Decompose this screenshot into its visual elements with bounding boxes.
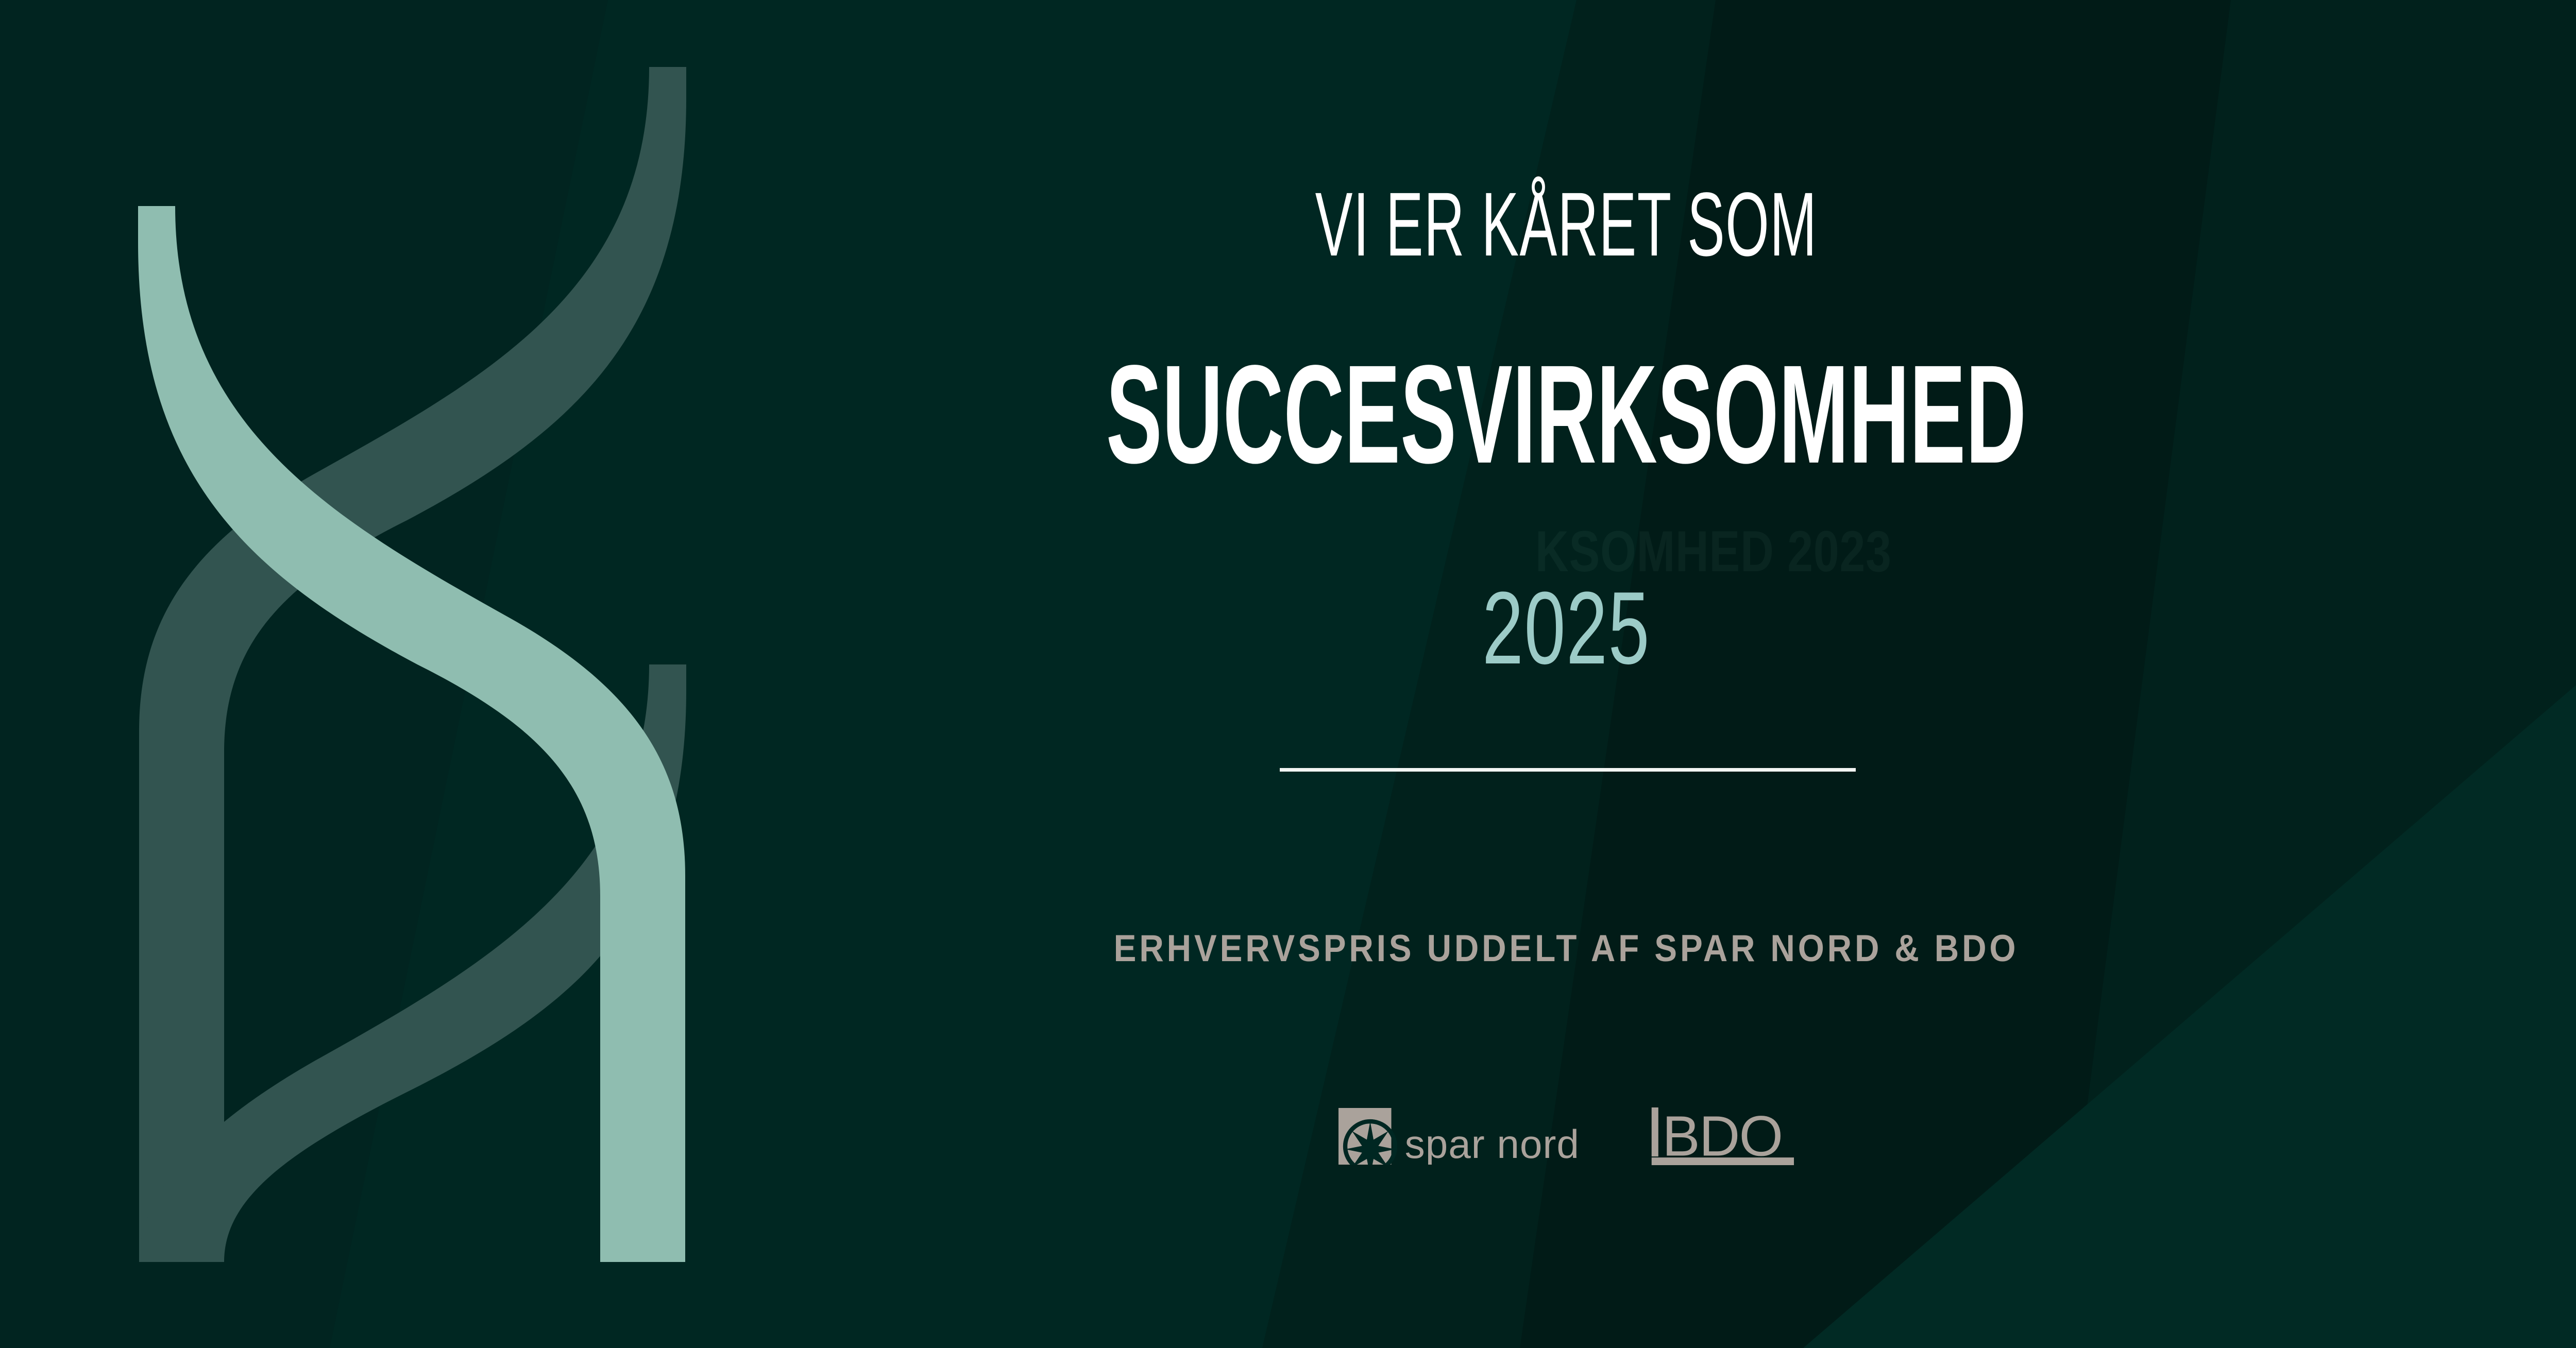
badge-content: VI ER KÅRET SOM SUCCESVIRKSOMHED KSOMHED… xyxy=(732,0,2411,1348)
bdo-logo-icon: BDO xyxy=(1650,1107,1794,1165)
award-badge-canvas: VI ER KÅRET SOM SUCCESVIRKSOMHED KSOMHED… xyxy=(0,0,2576,1348)
award-subline: ERHVERVSPRIS UDDELT AF SPAR NORD & BDO xyxy=(815,930,2317,967)
double-helix-ribbon-icon xyxy=(129,67,696,1262)
svg-text:BDO: BDO xyxy=(1662,1107,1782,1165)
page-title: SUCCESVIRKSOMHED xyxy=(1065,344,2067,484)
award-year: 2025 xyxy=(965,577,2167,680)
double-helix-artwork xyxy=(129,67,696,1262)
spar-nord-logo-icon: spar nord xyxy=(1338,1108,1583,1165)
logo-spar-nord: spar nord xyxy=(1338,1108,1583,1165)
divider xyxy=(1280,768,1856,772)
sponsor-logo-row: spar nord BDO xyxy=(732,1107,2401,1165)
svg-text:spar nord: spar nord xyxy=(1405,1121,1580,1165)
eyebrow-text: VI ER KÅRET SOM xyxy=(1049,179,2084,270)
logo-bdo: BDO xyxy=(1650,1107,1794,1165)
